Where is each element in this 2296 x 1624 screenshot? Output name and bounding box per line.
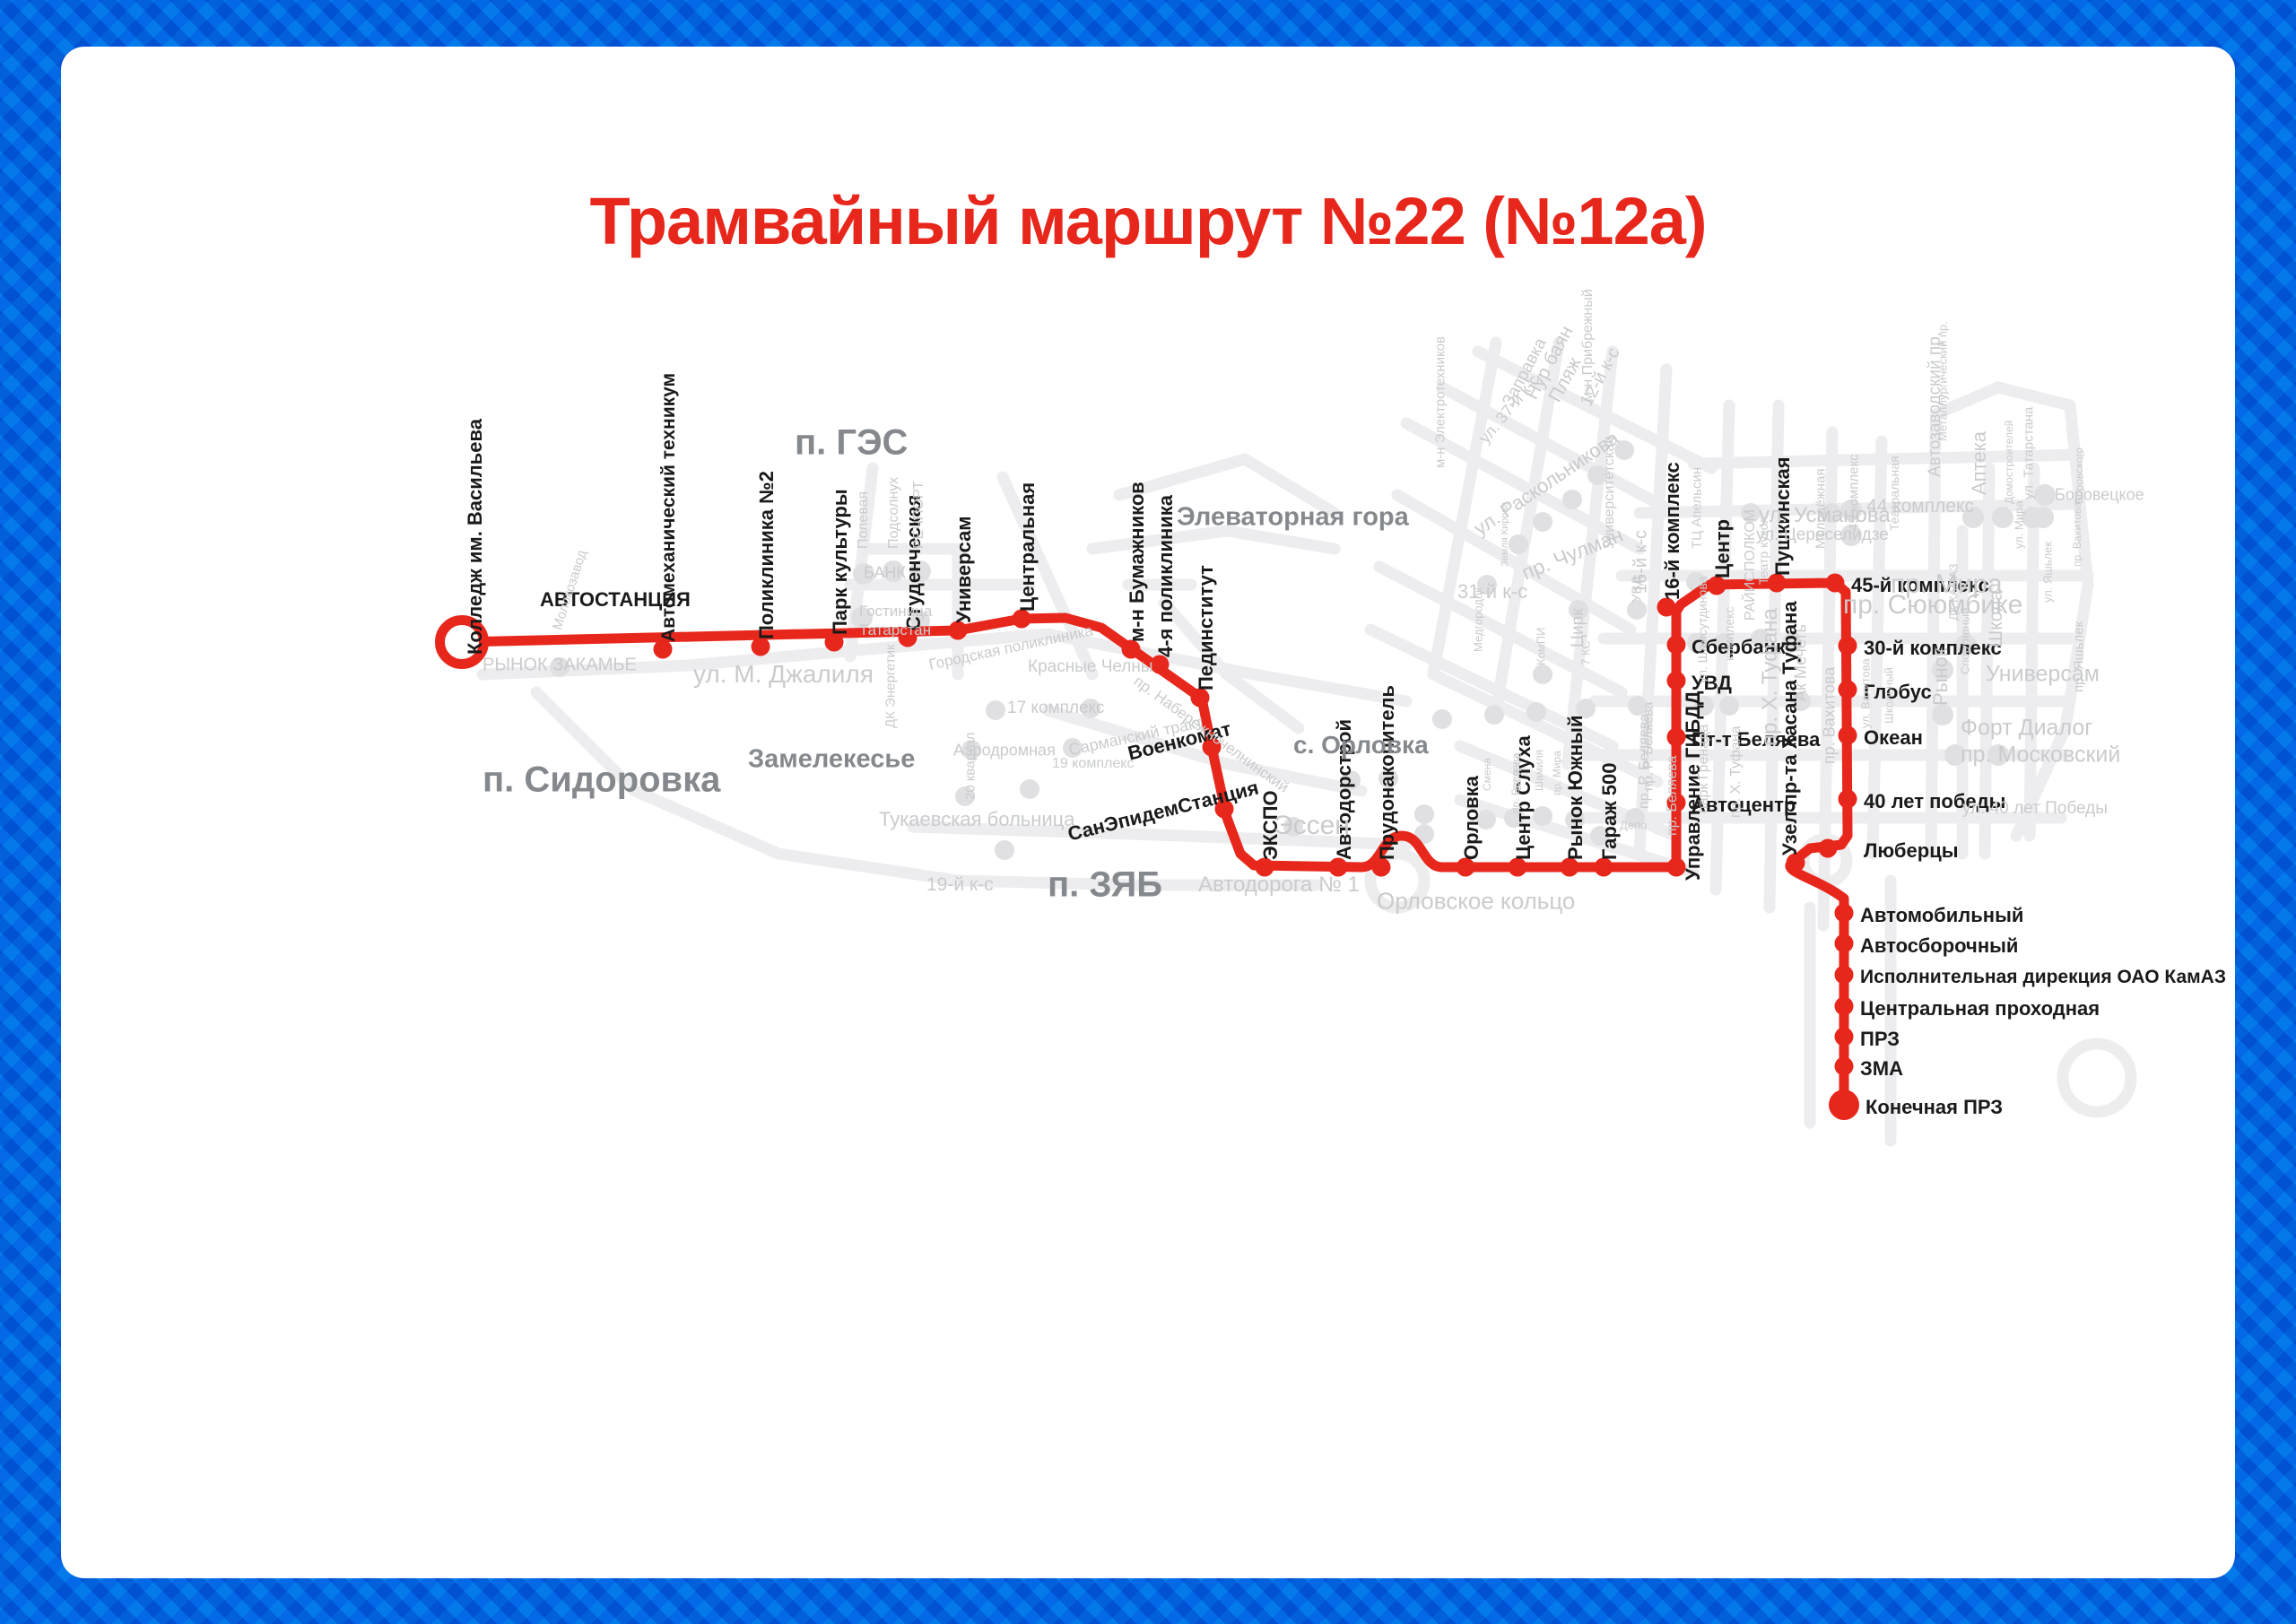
poster-card: Трамвайный маршрут №22 (№12а) [61, 47, 2235, 1578]
station-dot[interactable] [1839, 726, 1857, 745]
station-dot[interactable] [1667, 672, 1686, 690]
station-dot[interactable] [1151, 656, 1170, 674]
station-dot[interactable] [1835, 1028, 1854, 1046]
station-dot[interactable] [1667, 636, 1686, 655]
station-label: Океан [1864, 726, 1923, 750]
station-label: Центральная проходная [1860, 997, 2100, 1020]
station-label: Гараж 500 [1598, 762, 1622, 860]
station-label: Универсам [952, 516, 976, 623]
station-label: ПРЗ [1860, 1028, 1900, 1051]
station-dot[interactable] [1839, 790, 1857, 809]
station-label: Прудонакопитель [1376, 685, 1399, 860]
district-label: п. ГЭС [795, 423, 908, 464]
station-dot[interactable] [1839, 637, 1857, 656]
station-label: Центр [1711, 519, 1735, 578]
station-label: Поликлиника №2 [755, 471, 778, 639]
station-label: Пединститут [1195, 565, 1218, 690]
station-dot[interactable] [1256, 858, 1274, 877]
station-dot[interactable] [1509, 858, 1527, 877]
station-dot[interactable] [899, 629, 918, 647]
station-label: 45-й комплекс [1851, 574, 1989, 597]
station-dot[interactable] [1191, 689, 1210, 708]
station-dot[interactable] [1457, 858, 1475, 877]
district-label: п. ЗЯБ [1048, 865, 1162, 906]
station-label: Пушкинская [1771, 456, 1795, 576]
district-label: с. Орловка [1293, 731, 1429, 760]
station-dot[interactable] [1835, 997, 1854, 1016]
station-label: Узел пр-та Хасана Туфана [1779, 601, 1802, 855]
station-dot[interactable] [1768, 574, 1787, 593]
station-label: Орловка [1460, 776, 1483, 860]
station-label: 30-й комплекс [1864, 637, 2002, 660]
station-dot[interactable] [949, 621, 968, 640]
station-dot[interactable] [654, 640, 673, 659]
station-label: 40 лет победы [1864, 790, 2005, 813]
station-label: Сбербанк [1692, 636, 1786, 659]
station-label: Центральная [1016, 482, 1039, 612]
station-label: Конечная ПРЗ [1865, 1096, 2003, 1119]
station-label: Автосборочный [1860, 934, 2018, 958]
station-label: Люберцы [1864, 839, 1959, 863]
station-dot[interactable] [1835, 1057, 1854, 1076]
station-dot[interactable] [1835, 966, 1854, 985]
station-label: ЭКСПО [1259, 790, 1283, 860]
station-dot[interactable] [1835, 934, 1854, 953]
station-label: Рынок Южный [1564, 716, 1587, 860]
station-label: Парк культуры [829, 489, 852, 635]
district-label: п. Сидоровка [483, 760, 720, 801]
station-label: м-н Бумажников [1126, 482, 1149, 642]
district-label: Замелекесье [748, 745, 915, 775]
station-label: УВД [1692, 672, 1732, 695]
station-dot[interactable] [1122, 640, 1141, 659]
station-dot[interactable] [752, 638, 770, 656]
tram-route-map: Колледж им. ВасильеваАВТОСТАНЦИЯАвтомеха… [61, 47, 2235, 1578]
station-dot[interactable] [1595, 858, 1613, 877]
station-dot[interactable] [1787, 854, 1805, 873]
station-label: ЗМА [1860, 1057, 1903, 1081]
station-dot[interactable] [1835, 904, 1854, 923]
station-dot[interactable] [1708, 577, 1726, 595]
station-dot[interactable] [1657, 598, 1676, 617]
station-label: 4-я поликлиника [1154, 495, 1178, 657]
station-label: Исполнительная дирекция ОАО КамАЗ [1860, 967, 2226, 988]
station-dot[interactable] [825, 633, 844, 652]
station-label: Центр Слуха [1512, 735, 1535, 860]
station-label: Глобус [1864, 681, 1932, 704]
station-dot[interactable] [1372, 858, 1391, 877]
station-dot[interactable] [1329, 858, 1348, 877]
district-label: Элеваторная гора [1177, 503, 1409, 533]
terminus-marker[interactable] [1829, 1090, 1859, 1120]
station-dot[interactable] [1839, 681, 1857, 699]
station-dot[interactable] [1013, 610, 1031, 629]
station-label: Автомобильный [1860, 904, 2023, 927]
station-label: Студенческая [902, 495, 926, 630]
station-label: Автомеханический техникум [658, 373, 680, 642]
station-label: Колледж им. Васильева [464, 419, 487, 655]
station-label: Управление ГИБДД [1682, 690, 1705, 881]
station-label: 16-й комплекс [1661, 462, 1684, 600]
station-dot[interactable] [1561, 858, 1579, 877]
station-dot[interactable] [1826, 574, 1845, 593]
station-dot[interactable] [1819, 839, 1838, 858]
